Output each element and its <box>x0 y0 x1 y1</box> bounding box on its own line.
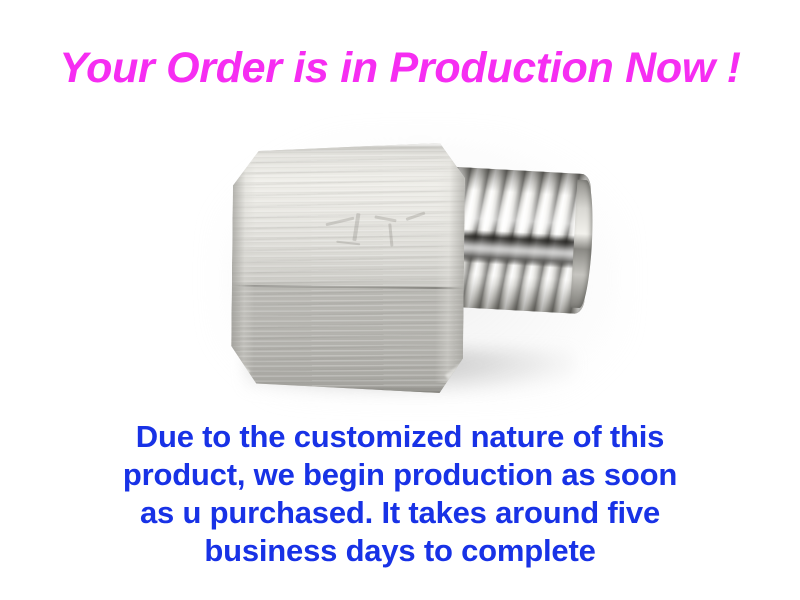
product-photo <box>0 120 800 410</box>
hex-nut-body <box>231 141 466 393</box>
disclaimer-line-3: as u purchased. It takes around five <box>0 494 800 532</box>
hex-left-chamfer <box>231 156 256 376</box>
hex-top-rim <box>252 141 447 148</box>
disclaimer-text: Due to the customized nature of this pro… <box>0 418 800 570</box>
hex-right-chamfer <box>435 153 465 383</box>
stamped-markings <box>320 207 432 268</box>
hex-silhouette <box>231 141 466 393</box>
headline-banner: Your Order is in Production Now ! <box>0 47 800 90</box>
disclaimer-line-2: product, we begin production as soon <box>0 456 800 494</box>
disclaimer-line-1: Due to the customized nature of this <box>0 418 800 456</box>
disclaimer-line-4: business days to complete <box>0 532 800 570</box>
